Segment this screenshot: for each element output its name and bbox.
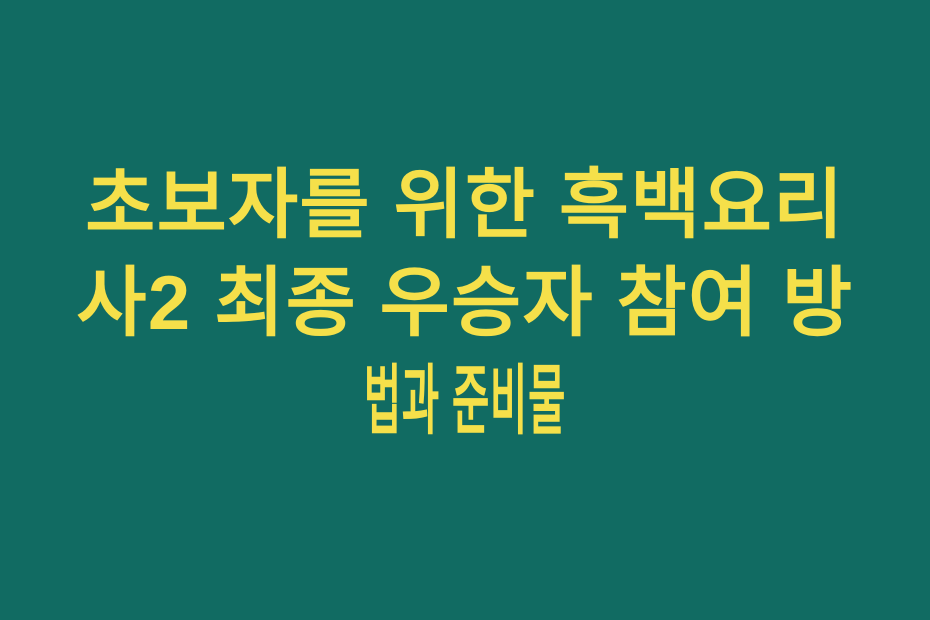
title-line-1: 초보자를 위한 흑백요리 <box>52 157 878 255</box>
title-line-2: 사2 최종 우승자 참여 방 <box>52 255 878 353</box>
thumbnail-card: 초보자를 위한 흑백요리 사2 최종 우승자 참여 방 법과 준비물 <box>0 0 930 620</box>
title-line-3: 법과 준비물 <box>245 353 685 451</box>
title-text-block: 초보자를 위한 흑백요리 사2 최종 우승자 참여 방 법과 준비물 <box>0 157 930 451</box>
